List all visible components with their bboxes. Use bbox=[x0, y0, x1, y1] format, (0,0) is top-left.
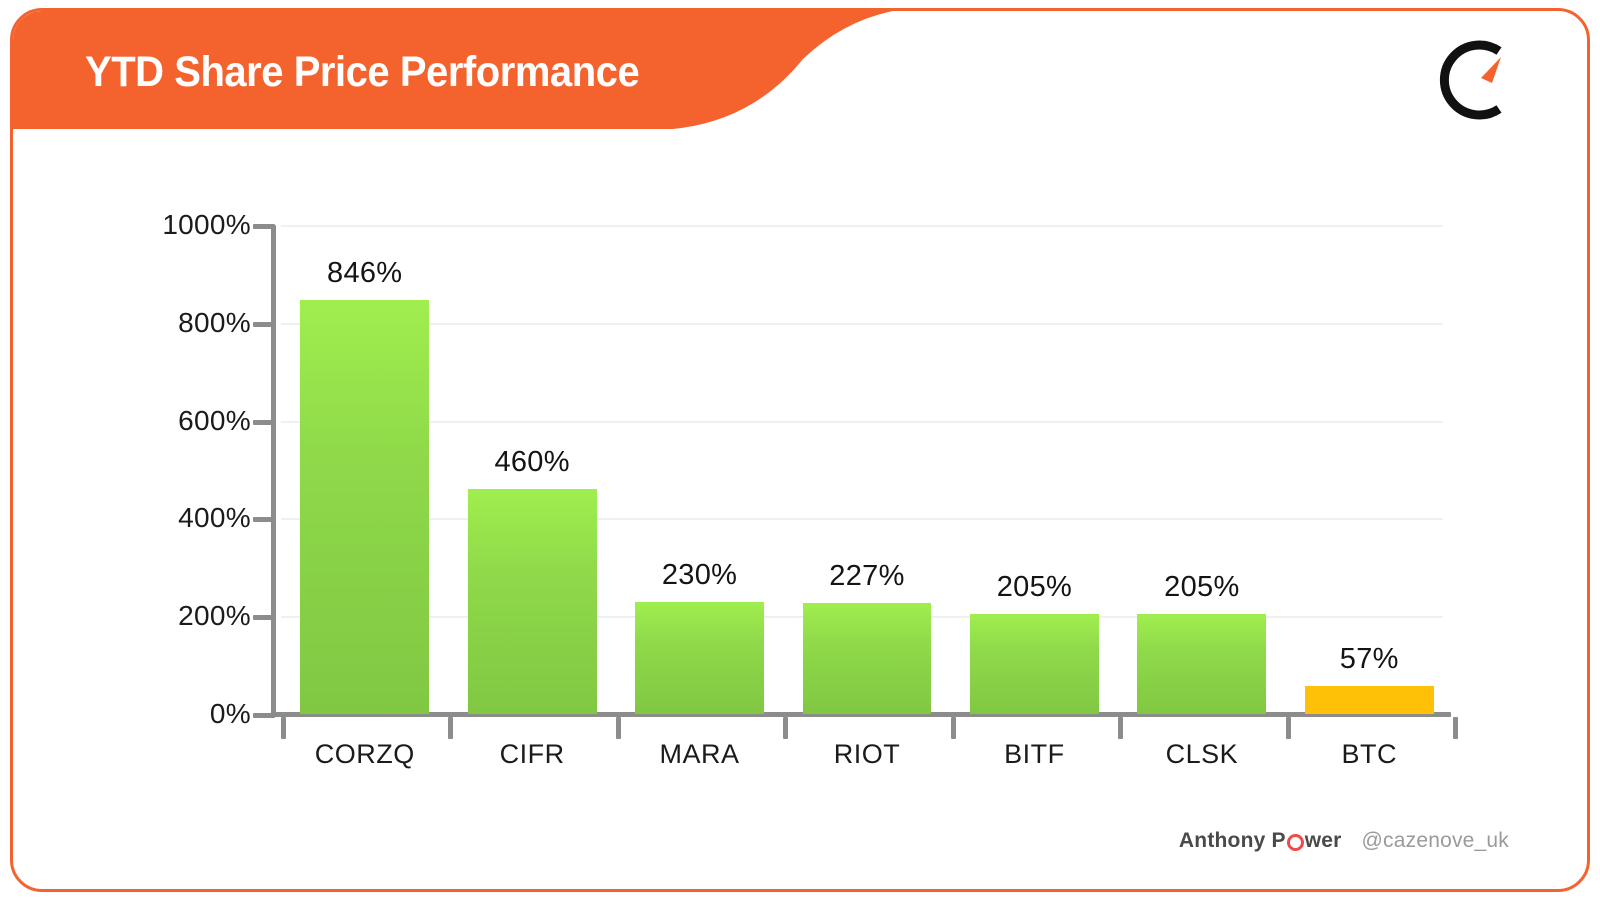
bar-clsk[interactable]: 205% bbox=[1137, 614, 1266, 714]
x-axis-label-btc: BTC bbox=[1286, 739, 1453, 770]
y-axis-label: 0% bbox=[21, 698, 251, 730]
x-axis-label-cifr: CIFR bbox=[448, 739, 615, 770]
social-handle: @cazenove_uk bbox=[1362, 829, 1509, 853]
bar-riot[interactable]: 227% bbox=[803, 603, 932, 714]
x-axis-label-clsk: CLSK bbox=[1118, 739, 1285, 770]
bar-value-label: 460% bbox=[494, 446, 569, 479]
bar-btc[interactable]: 57% bbox=[1305, 686, 1434, 714]
x-axis-tick bbox=[951, 717, 956, 739]
x-axis-label-corzq: CORZQ bbox=[281, 739, 448, 770]
bar-value-label: 227% bbox=[829, 560, 904, 593]
x-axis-label-bitf: BITF bbox=[951, 739, 1118, 770]
y-axis-label: 800% bbox=[21, 307, 251, 339]
bar-value-label: 230% bbox=[662, 559, 737, 592]
bar-value-label: 205% bbox=[1164, 571, 1239, 604]
gridline bbox=[281, 518, 1443, 520]
bar-mara[interactable]: 230% bbox=[635, 602, 764, 714]
x-axis-label-mara: MARA bbox=[616, 739, 783, 770]
gridline bbox=[281, 225, 1443, 227]
o-ring-icon bbox=[1287, 834, 1304, 851]
y-axis-line bbox=[271, 225, 276, 717]
chart-card: YTD Share Price Performance 0%200%400%60… bbox=[10, 8, 1590, 892]
x-axis-tick bbox=[1286, 717, 1291, 739]
x-axis-tick bbox=[1118, 717, 1123, 739]
x-axis-tick bbox=[616, 717, 621, 739]
x-axis-label-riot: RIOT bbox=[783, 739, 950, 770]
y-axis-label: 200% bbox=[21, 600, 251, 632]
y-axis-label: 400% bbox=[21, 502, 251, 534]
bar-corzq[interactable]: 846% bbox=[300, 300, 429, 714]
bar-value-label: 57% bbox=[1340, 643, 1399, 676]
y-axis-label: 600% bbox=[21, 405, 251, 437]
x-axis-tick bbox=[783, 717, 788, 739]
x-axis-tick bbox=[1453, 717, 1458, 739]
gridline bbox=[281, 421, 1443, 423]
byline: Anthony P wer bbox=[1179, 829, 1342, 853]
byline-prefix: Anthony P bbox=[1179, 829, 1286, 853]
gridline bbox=[281, 323, 1443, 325]
bar-bitf[interactable]: 205% bbox=[970, 614, 1099, 714]
x-axis-tick bbox=[448, 717, 453, 739]
bar-cifr[interactable]: 460% bbox=[468, 489, 597, 714]
bar-value-label: 205% bbox=[997, 571, 1072, 604]
byline-suffix: wer bbox=[1305, 829, 1342, 853]
bar-chart: 0%200%400%600%800%1000% 846%460%230%227%… bbox=[13, 11, 1590, 892]
bar-value-label: 846% bbox=[327, 257, 402, 290]
y-axis-label: 1000% bbox=[21, 209, 251, 241]
footer: Anthony P wer @cazenove_uk bbox=[1179, 829, 1509, 853]
x-axis-tick bbox=[281, 717, 286, 739]
